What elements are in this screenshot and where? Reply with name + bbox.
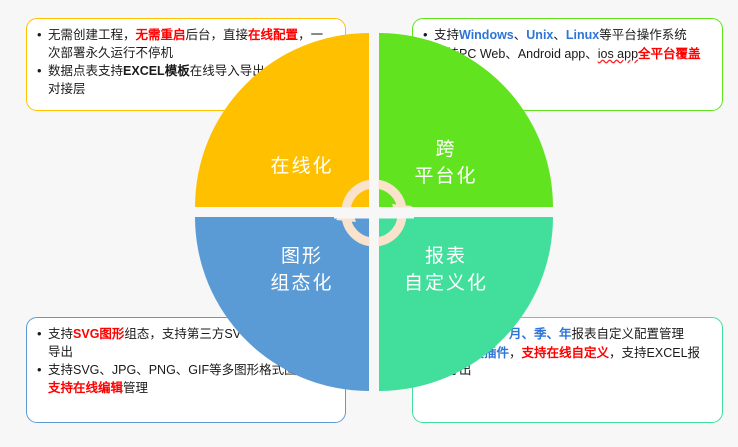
text-run-plain: 、: [553, 28, 566, 42]
text-run-plain: 管理: [123, 381, 148, 395]
text-run-plain: 支持: [48, 327, 73, 341]
text-run-plain: 等平台操作系统: [599, 28, 687, 42]
quadrant-online-fill: [195, 33, 369, 207]
text-run-blue: Linux: [566, 28, 599, 42]
text-run-plain: 数据点表支持: [48, 64, 123, 78]
text-run-plain: 报表自定义配置管理: [572, 327, 685, 341]
quadrant-report[interactable]: [379, 217, 553, 391]
text-run-bold: EXCEL模板: [123, 64, 190, 78]
quadrant-cross-platform[interactable]: [379, 33, 553, 207]
text-run-plain: 无需创建工程，: [48, 28, 136, 42]
quadrant-graphics[interactable]: [195, 217, 369, 391]
quadrant-online[interactable]: [195, 33, 369, 207]
quadrant-cross-platform-fill: [379, 33, 553, 207]
quadrant-wheel: 在线化 跨 平台化 图形 组态化 报表 自定义化: [195, 33, 553, 391]
text-run-spell: ios app: [598, 47, 638, 61]
quadrant-report-fill: [379, 217, 553, 391]
quadrant-graphics-fill: [195, 217, 369, 391]
text-run-red: SVG图形: [73, 327, 124, 341]
text-run-red: 无需重启: [136, 28, 186, 42]
infographic-canvas: 无需创建工程，无需重启后台，直接在线配置，一次部署永久运行不停机数据点表支持EX…: [0, 0, 738, 447]
text-run-red: 支持在线编辑: [48, 381, 123, 395]
text-run-red: 全平台覆盖: [638, 47, 701, 61]
